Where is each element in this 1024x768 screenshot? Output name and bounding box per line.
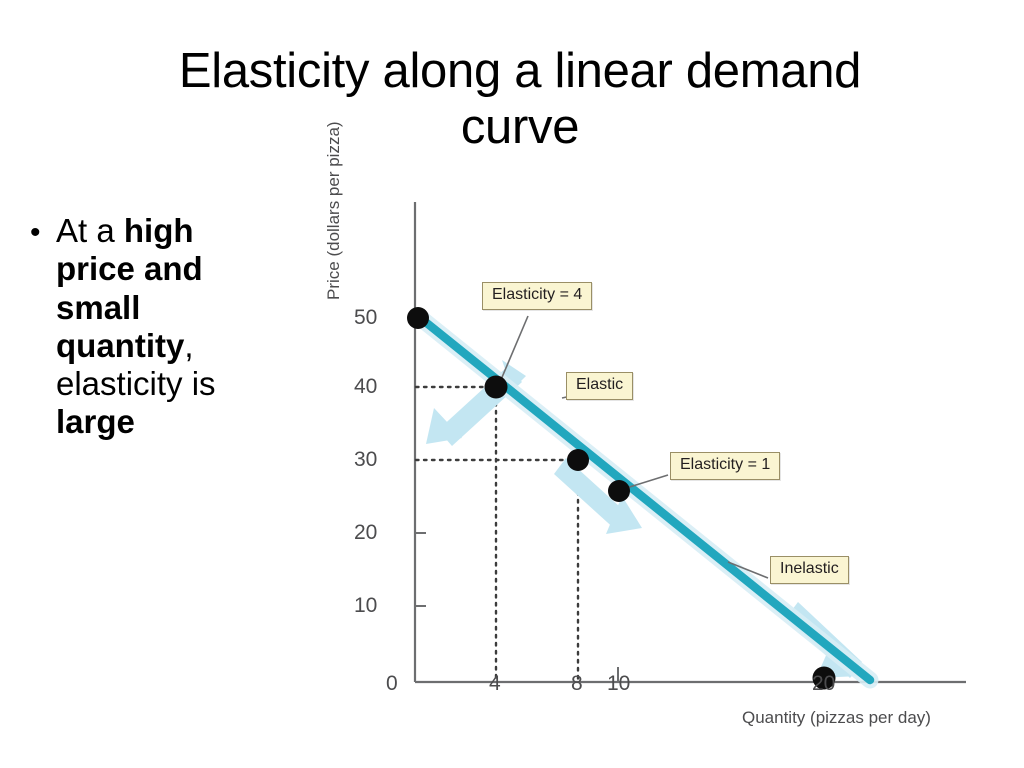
y-tick-label-50: 50	[354, 306, 377, 330]
list-item: • At a high price and small quantity, el…	[30, 212, 330, 442]
x-tick-label-4: 4	[489, 672, 501, 696]
body-text-block: • At a high price and small quantity, el…	[30, 212, 330, 442]
y-tick-label-30: 30	[354, 448, 377, 472]
data-point-4-40	[485, 376, 508, 399]
y-axis-title: Price (dollars per pizza)	[324, 121, 344, 300]
y-tick-label-20: 20	[354, 521, 377, 545]
bullet-segment-plain-1: At a	[56, 212, 124, 249]
x-tick-label-20: 20	[812, 672, 835, 696]
data-point-8-30	[567, 449, 589, 471]
demand-curve-line	[418, 316, 870, 680]
data-point-0-50	[407, 307, 429, 329]
bullet-segment-bold-2: large	[56, 403, 135, 440]
y-tick-label-0: 0	[386, 672, 398, 696]
annotation-elasticity-4: Elasticity = 4	[482, 282, 592, 310]
bullet-text: At a high price and small quantity, elas…	[56, 212, 278, 442]
y-tick-label-40: 40	[354, 375, 377, 399]
x-tick-label-10: 10	[607, 672, 630, 696]
page-title: Elasticity along a linear demand curve	[120, 44, 920, 156]
annotation-elasticity-1: Elasticity = 1	[670, 452, 780, 480]
annotation-inelastic: Inelastic	[770, 556, 849, 584]
x-tick-label-8: 8	[571, 672, 583, 696]
bullet-marker-icon: •	[30, 212, 56, 248]
y-tick-label-10: 10	[354, 594, 377, 618]
x-axis-title: Quantity (pizzas per day)	[742, 708, 931, 728]
elasticity-chart: 50 40 30 20 10 0 4 8 10 20 Price (dollar…	[330, 190, 1010, 740]
data-point-10-25	[608, 480, 630, 502]
annotation-elastic: Elastic	[566, 372, 633, 400]
